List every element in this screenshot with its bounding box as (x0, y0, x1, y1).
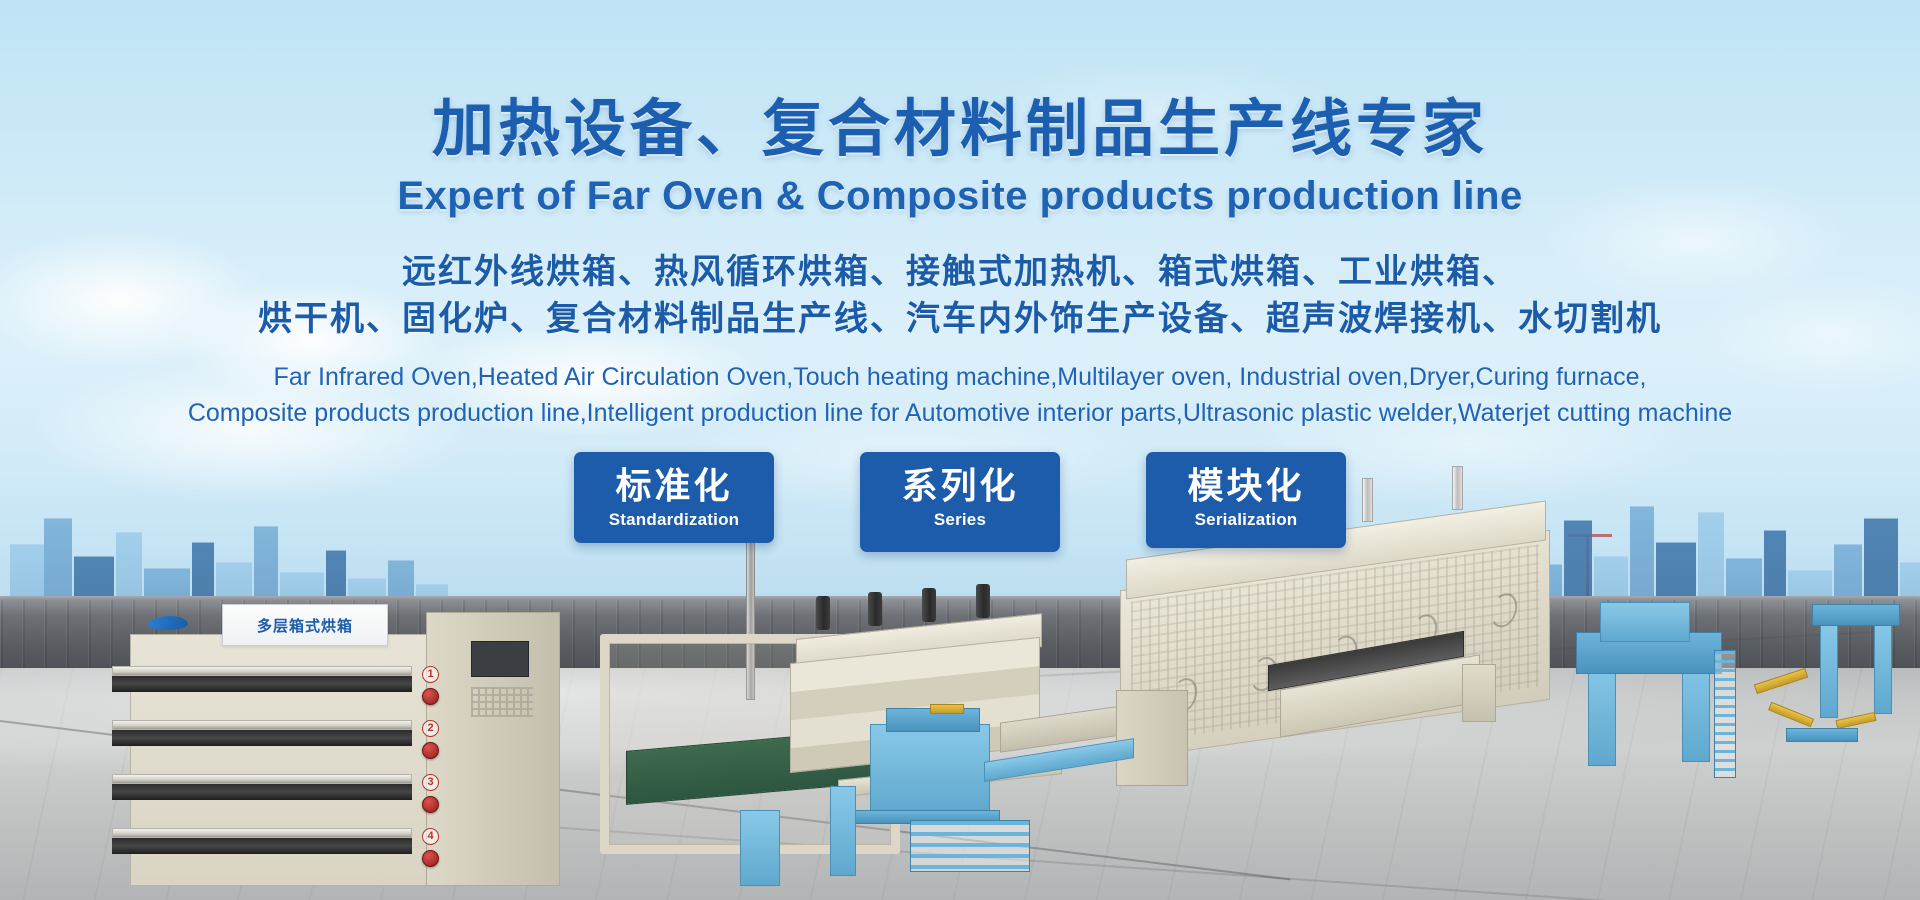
indicator-number-2: 2 (422, 720, 439, 737)
control-knob-1[interactable] (422, 688, 439, 705)
badge-label-cn: 系列化 (886, 466, 1034, 507)
product-list-cn-line-1: 远红外线烘箱、热风循环烘箱、接触式加热机、箱式烘箱、工业烘箱、 (0, 249, 1920, 296)
product-list-en-line-1: Far Infrared Oven,Heated Air Circulation… (0, 359, 1920, 395)
press-head (1600, 602, 1690, 642)
machine-robotic-cells (1500, 540, 1920, 900)
frame-post-a (1820, 622, 1838, 718)
banner-text-block: 加热设备、复合材料制品生产线专家 Expert of Far Oven & Co… (0, 0, 1920, 431)
indicator-number-4: 4 (422, 828, 439, 845)
product-list-en-line-2: Composite products production line,Intel… (0, 395, 1920, 431)
robot-arm-3 (1836, 712, 1877, 729)
frame-post-b (1874, 618, 1892, 714)
badge-label-en: Serialization (1172, 510, 1320, 530)
control-knob-3[interactable] (422, 796, 439, 813)
badge-serialization[interactable]: 模块化 Serialization (1146, 452, 1346, 548)
headline-chinese: 加热设备、复合材料制品生产线专家 (0, 78, 1920, 168)
badge-label-en: Series (886, 510, 1034, 530)
tunnel-oven-control-box (1116, 690, 1188, 786)
control-display (471, 641, 529, 677)
robot-arm-2 (1768, 702, 1814, 728)
badge-standardization[interactable]: 标准化 Standardization (574, 452, 774, 543)
headline-english: Expert of Far Oven & Composite products … (0, 174, 1920, 219)
badge-label-cn: 标准化 (600, 466, 748, 507)
badge-series[interactable]: 系列化 Series (860, 452, 1060, 552)
frame-top (1812, 604, 1900, 626)
badge-label-en: Standardization (600, 510, 748, 530)
brand-logo-icon (148, 612, 212, 634)
product-list-cn-line-2: 烘干机、固化炉、复合材料制品生产线、汽车内外饰生产设备、超声波焊接机、水切割机 (0, 296, 1920, 343)
indicator-number-1: 1 (422, 666, 439, 683)
feature-badges: 标准化 Standardization 系列化 Series 模块化 Seria… (0, 452, 1920, 552)
machine-multilayer-oven: 1 2 3 4 多层箱式烘箱 (130, 612, 560, 900)
control-knob-2[interactable] (422, 742, 439, 759)
promo-banner: 1 2 3 4 多层箱式烘箱 (0, 0, 1920, 900)
oven-control-cabinet (426, 612, 560, 886)
access-ladder (1714, 650, 1736, 778)
control-knob-4[interactable] (422, 850, 439, 867)
machine-nameplate: 多层箱式烘箱 (222, 604, 388, 646)
vent-grille (471, 687, 533, 717)
badge-label-cn: 模块化 (1172, 466, 1320, 507)
fixture-table (1786, 728, 1858, 742)
indicator-number-3: 3 (422, 774, 439, 791)
robot-arm-1 (1754, 668, 1808, 694)
